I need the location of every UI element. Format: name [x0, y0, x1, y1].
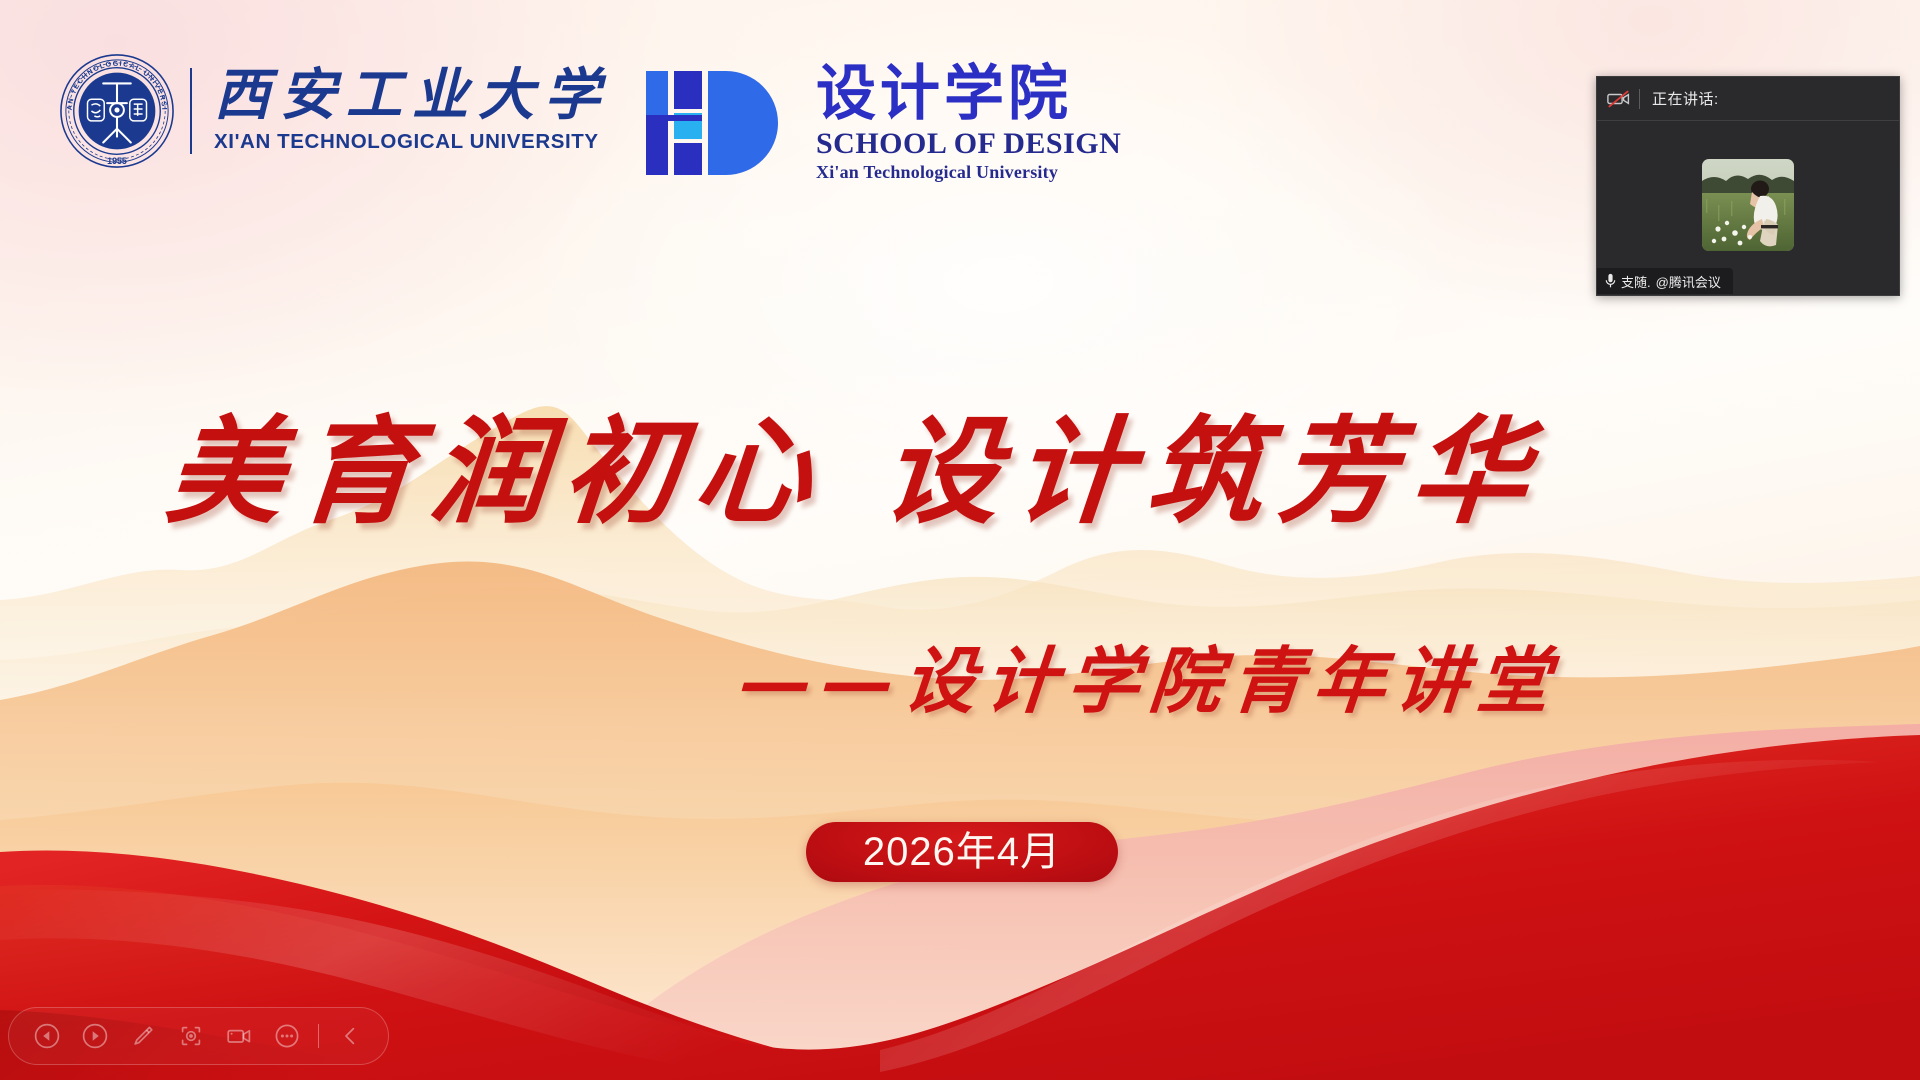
participant-handle: @腾讯会议	[1656, 272, 1721, 291]
school-of-design-wordmark: 设计学院 SCHOOL OF DESIGN Xi'an Technologica…	[816, 62, 1121, 183]
camcorder-icon	[225, 1023, 253, 1049]
participant-name: 支随.	[1621, 272, 1651, 291]
school-name-en: SCHOOL OF DESIGN	[816, 127, 1121, 161]
video-panel-header: 正在讲话:	[1597, 77, 1899, 121]
previous-slide-button[interactable]	[26, 1015, 68, 1057]
slide-subtitle: ——设计学院青年讲堂	[735, 622, 1564, 727]
school-of-design-mark-icon	[640, 67, 790, 179]
toolbar-divider	[318, 1024, 319, 1048]
xtu-logo: XI'AN TECHNOLOGICAL UNIVERSITY	[58, 52, 610, 170]
pen-icon	[130, 1023, 156, 1049]
presentation-toolbar[interactable]	[8, 1007, 389, 1065]
seal-year: 1955	[107, 156, 127, 166]
video-panel-body: 支随. @腾讯会议	[1597, 121, 1899, 294]
next-slide-button[interactable]	[74, 1015, 116, 1057]
microphone-icon	[1605, 273, 1616, 289]
date-badge-label: 2026年4月	[863, 832, 1061, 872]
ellipsis-circle-icon	[274, 1023, 300, 1049]
participant-avatar	[1702, 159, 1794, 251]
meeting-video-panel[interactable]: 正在讲话:	[1596, 76, 1900, 296]
presentation-slide: XI'AN TECHNOLOGICAL UNIVERSITY	[0, 0, 1920, 1080]
xtu-name-cn: 西安工业大学	[214, 68, 610, 124]
header-divider	[1639, 89, 1640, 109]
school-parent-en: Xi'an Technological University	[816, 162, 1121, 183]
camera-off-icon[interactable]	[1607, 89, 1631, 109]
speaking-status-label: 正在讲话:	[1652, 88, 1719, 109]
xtu-name-en: XI'AN TECHNOLOGICAL UNIVERSITY	[214, 130, 610, 154]
collapse-toolbar-button[interactable]	[329, 1015, 371, 1057]
record-button[interactable]	[218, 1015, 260, 1057]
more-options-button[interactable]	[266, 1015, 308, 1057]
date-badge: 2026年4月	[806, 822, 1118, 882]
university-logo-lockup: XI'AN TECHNOLOGICAL UNIVERSITY	[58, 52, 610, 170]
chevron-right-circle-icon	[82, 1023, 108, 1049]
xtu-wordmark: 西安工业大学 XI'AN TECHNOLOGICAL UNIVERSITY	[190, 68, 610, 154]
school-of-design-logo-lockup: 设计学院 SCHOOL OF DESIGN Xi'an Technologica…	[640, 62, 1121, 183]
avatar-photo	[1702, 159, 1794, 251]
university-seal-icon: XI'AN TECHNOLOGICAL UNIVERSITY	[58, 52, 176, 170]
chevron-left-icon	[338, 1023, 362, 1049]
spotlight-button[interactable]	[170, 1015, 212, 1057]
spotlight-icon	[178, 1023, 204, 1049]
slide-main-title: 美育润初心 设计筑芳华	[161, 378, 1776, 546]
annotate-pen-button[interactable]	[122, 1015, 164, 1057]
school-name-cn: 设计学院	[816, 62, 1121, 125]
chevron-left-circle-icon	[34, 1023, 60, 1049]
participant-nameplate: 支随. @腾讯会议	[1597, 268, 1733, 294]
